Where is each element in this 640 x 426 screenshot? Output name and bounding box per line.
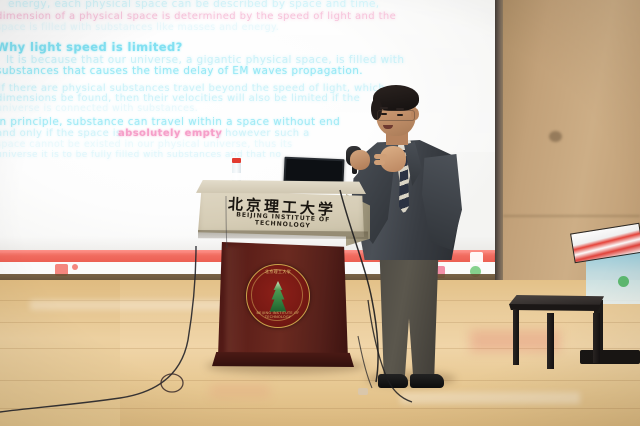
band-icon-d bbox=[470, 252, 483, 264]
speaker-mic-hand bbox=[350, 150, 370, 170]
slide-line-3: space is filled with substances like mas… bbox=[0, 22, 279, 33]
slide-line-11: and only if the space is bbox=[0, 128, 122, 139]
wall-seam bbox=[503, 215, 640, 217]
speaker-eye-1 bbox=[381, 113, 387, 115]
university-emblem: 北京理工大学 BEIJING INSTITUTE OF TECHNOLOGY bbox=[246, 264, 310, 328]
laptop-screen bbox=[286, 159, 343, 182]
bottle-label bbox=[232, 173, 241, 180]
table-leg-1 bbox=[513, 309, 519, 365]
emblem-top-text: 北京理工大学 bbox=[247, 269, 309, 275]
slide-heading: Why light speed is limited? bbox=[0, 40, 183, 54]
speaker-finger-1 bbox=[374, 154, 387, 159]
slide-line-2: dimension of a physical space is determi… bbox=[0, 11, 396, 22]
speaker-shoe-left bbox=[378, 374, 408, 388]
band-icon-b bbox=[72, 264, 78, 270]
speaker-gesturing-hand bbox=[380, 146, 406, 172]
table-edge bbox=[509, 304, 601, 311]
table-leg-2 bbox=[547, 313, 554, 369]
slide-line-14: space cannot be existed in our physical … bbox=[0, 139, 292, 150]
lectern: 北京理工大学 BEIJING INSTITUTE OF TECHNOLOGY 北… bbox=[196, 180, 376, 370]
slide-highlight: absolutely empty bbox=[118, 128, 222, 139]
lectern-highlight bbox=[226, 246, 248, 354]
slide-line-10: In principle, substance can travel withi… bbox=[0, 116, 340, 128]
slide-line-1: energy, each physical space can be descr… bbox=[8, 0, 380, 10]
speaker-brow-2 bbox=[396, 108, 404, 110]
display-green-dot bbox=[618, 276, 629, 287]
table-leg-3 bbox=[593, 313, 600, 363]
speaker-glasses bbox=[377, 110, 415, 121]
wall-screen-edge bbox=[494, 0, 503, 310]
emblem-bottom-text: BEIJING INSTITUTE OF TECHNOLOGY bbox=[247, 311, 309, 319]
speaker-shoe-right bbox=[410, 374, 444, 388]
wall-mark bbox=[549, 131, 562, 142]
lectern-base bbox=[212, 352, 354, 367]
speaker-eye-2 bbox=[397, 114, 403, 116]
speaker-brow-1 bbox=[380, 107, 388, 109]
speaker-trousers bbox=[374, 254, 444, 378]
lecture-photo-scene: energy, each physical space can be descr… bbox=[0, 0, 640, 426]
floor-red-reflection-2 bbox=[210, 384, 270, 398]
slide-line-9: universe is connected with substances. bbox=[0, 103, 198, 114]
slide-line-6: substances that causes the time delay of… bbox=[0, 65, 363, 77]
speaker-finger-2 bbox=[374, 160, 385, 165]
bottle-cap bbox=[232, 158, 241, 163]
side-table bbox=[509, 295, 604, 367]
slide-line-13: , however such a bbox=[218, 128, 310, 139]
